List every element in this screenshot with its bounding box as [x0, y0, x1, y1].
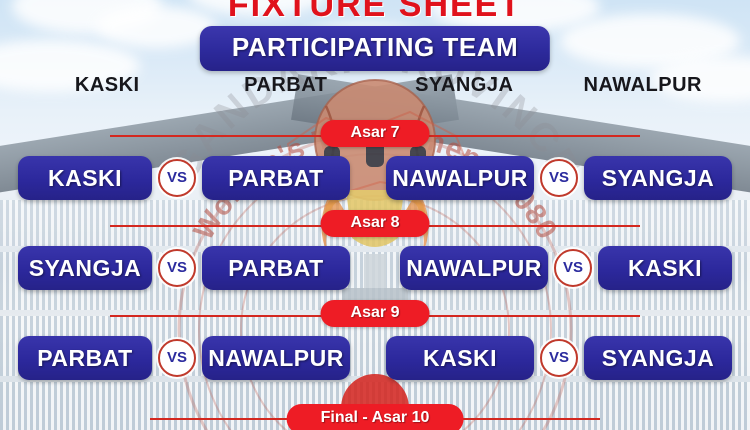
team-chip[interactable]: PARBAT	[18, 336, 152, 380]
round-date-pill: Asar 8	[321, 210, 430, 237]
participating-team-list: KASKI PARBAT SYANGJA NAWALPUR	[0, 74, 750, 97]
participating-team-name: KASKI	[18, 74, 197, 97]
round-asar-8: Asar 8 SYANGJA VS PARBAT NAWALPUR VS KAS…	[0, 208, 750, 298]
vs-badge: VS	[158, 339, 196, 377]
fixture[interactable]: KASKI VS SYANGJA	[375, 336, 750, 380]
round-date-row: Asar 7	[0, 118, 750, 152]
round-date-row: Asar 8	[0, 208, 750, 242]
final-date-pill: Final - Asar 10	[287, 404, 464, 430]
team-chip[interactable]: NAWALPUR	[202, 336, 350, 380]
fixture[interactable]: NAWALPUR VS SYANGJA	[375, 156, 750, 200]
vs-badge: VS	[540, 159, 578, 197]
match-row: SYANGJA VS PARBAT NAWALPUR VS KASKI	[0, 242, 750, 294]
vs-badge: VS	[554, 249, 592, 287]
team-chip[interactable]: PARBAT	[202, 156, 350, 200]
team-chip[interactable]: NAWALPUR	[386, 156, 534, 200]
team-chip[interactable]: PARBAT	[202, 246, 350, 290]
team-chip[interactable]: KASKI	[598, 246, 732, 290]
vs-badge: VS	[540, 339, 578, 377]
vs-badge: VS	[158, 249, 196, 287]
team-chip[interactable]: KASKI	[386, 336, 534, 380]
team-chip[interactable]: SYANGJA	[18, 246, 152, 290]
match-row: PARBAT VS NAWALPUR KASKI VS SYANGJA	[0, 332, 750, 384]
fixture[interactable]: PARBAT VS NAWALPUR	[0, 336, 375, 380]
round-date-row: Asar 9	[0, 298, 750, 332]
participating-team-name: NAWALPUR	[554, 74, 733, 97]
round-date-pill: Asar 9	[321, 300, 430, 327]
round-asar-9: Asar 9 PARBAT VS NAWALPUR KASKI VS SYANG…	[0, 298, 750, 388]
page-title: FIXTURE SHEET	[0, 0, 750, 25]
final-round: Final - Asar 10	[0, 404, 750, 430]
match-row: KASKI VS PARBAT NAWALPUR VS SYANGJA	[0, 152, 750, 204]
team-chip[interactable]: KASKI	[18, 156, 152, 200]
team-chip[interactable]: SYANGJA	[584, 156, 732, 200]
team-chip[interactable]: NAWALPUR	[400, 246, 548, 290]
fixture[interactable]: KASKI VS PARBAT	[0, 156, 375, 200]
fixture[interactable]: SYANGJA VS PARBAT	[0, 246, 375, 290]
fixture[interactable]: NAWALPUR VS KASKI	[375, 246, 750, 290]
participating-team-banner: PARTICIPATING TEAM	[200, 26, 550, 71]
round-date-pill: Asar 7	[321, 120, 430, 147]
vs-badge: VS	[158, 159, 196, 197]
round-asar-7: Asar 7 KASKI VS PARBAT NAWALPUR VS SYANG…	[0, 118, 750, 208]
participating-team-name: PARBAT	[197, 74, 376, 97]
participating-team-name: SYANGJA	[375, 74, 554, 97]
team-chip[interactable]: SYANGJA	[584, 336, 732, 380]
fixture-poster: GANDAKI PROVINCE Women's Tournament -208…	[0, 0, 750, 430]
